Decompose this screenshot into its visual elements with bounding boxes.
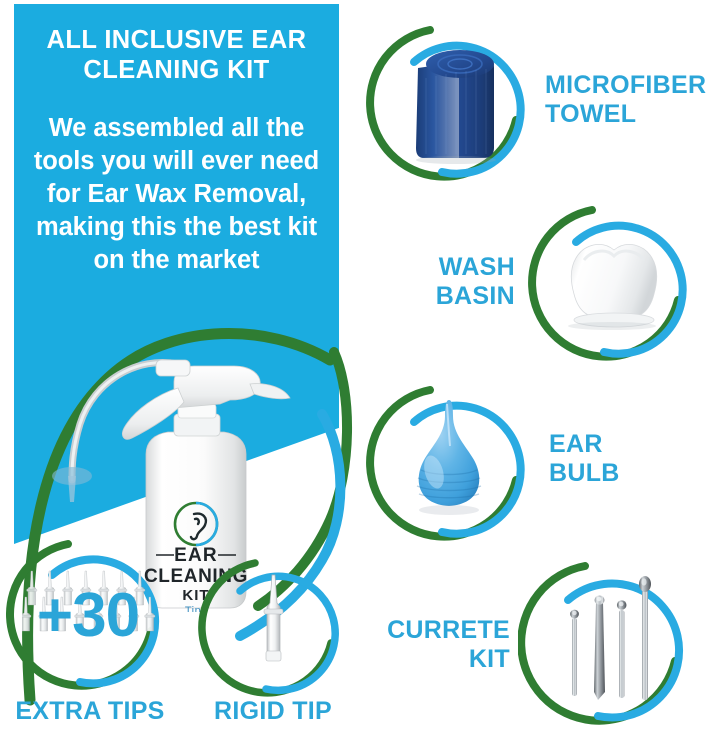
plastic-tip-array-photo	[22, 567, 156, 655]
label-extra-tips: EXTRA TIPS	[0, 697, 180, 726]
label-ear-bulb: EAR BULB	[549, 430, 699, 488]
trigger-rear-fin	[250, 384, 290, 399]
product-circle-microfiber-towel[interactable]	[366, 16, 536, 186]
label-currete-kit: CURRETE KIT	[355, 616, 510, 674]
rolled-blue-towel-photo	[400, 44, 504, 164]
white-rigid-nozzle-photo	[254, 573, 294, 679]
label-rigid-tip: RIGID TIP	[188, 697, 358, 726]
product-circle-rigid-tip[interactable]	[198, 551, 348, 701]
curette-tool-1	[570, 610, 579, 696]
hose-tip-nozzle	[68, 476, 76, 502]
product-circle-currete-kit[interactable]	[518, 552, 696, 730]
blue-bulb-syringe-photo	[406, 394, 492, 526]
rigid-tip-collar	[264, 609, 283, 614]
label-wash-basin: WASH BASIN	[360, 253, 515, 311]
rigid-tip-body	[267, 575, 280, 657]
ear-cleaning-kit-infographic: ALL INCLUSIVE EAR CLEANING KIT We assemb…	[0, 0, 710, 730]
label-microfiber-towel: MICROFIBER TOWEL	[545, 71, 710, 129]
white-wash-basin-photo	[554, 234, 674, 334]
product-circle-ear-bulb[interactable]	[366, 376, 536, 546]
curette-tool-2	[594, 595, 605, 700]
rigid-tip-base	[266, 651, 281, 661]
spray-nozzle	[156, 360, 190, 376]
product-circle-extra-tips[interactable]: +30	[6, 531, 170, 695]
curette-tool-4	[639, 576, 651, 700]
curette-tool-3	[617, 600, 627, 698]
metal-curette-tools-photo	[558, 574, 662, 706]
product-circle-wash-basin[interactable]	[528, 196, 698, 366]
